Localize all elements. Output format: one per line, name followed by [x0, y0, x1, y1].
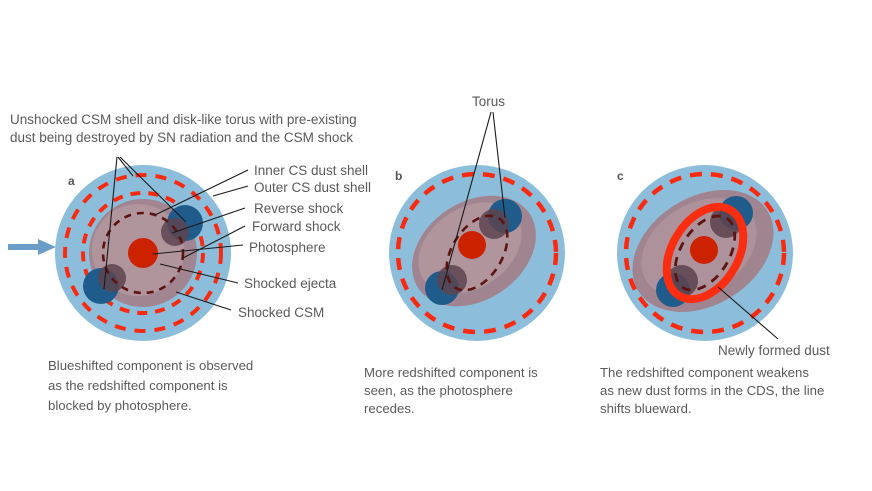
caption-c-line-3: shifts blueward.	[600, 401, 692, 416]
label-shocked-csm: Shocked CSM	[238, 305, 324, 320]
torus-overlap-lower-b	[437, 265, 467, 295]
caption-c-line-1: The redshifted component weakens	[600, 365, 809, 380]
caption-c: The redshifted component weakens as new …	[600, 365, 824, 416]
caption-b-line-3: recedes.	[364, 401, 415, 416]
caption-b-line-2: seen, as the photosphere	[364, 383, 513, 398]
caption-a-line-2: as the redshifted component is	[48, 378, 228, 393]
incoming-arrow	[8, 239, 56, 255]
label-torus: Torus	[472, 94, 505, 109]
label-newly-formed-dust: Newly formed dust	[718, 343, 830, 358]
caption-b-line-1: More redshifted component is	[364, 365, 538, 380]
caption-c-line-2: as new dust forms in the CDS, the line	[600, 383, 824, 398]
figure-canvas: Unshocked CSM shell and disk-like torus …	[0, 0, 872, 491]
sn-csm-dust-evolution-diagram: Unshocked CSM shell and disk-like torus …	[0, 0, 872, 491]
panel-letter-b: b	[395, 169, 402, 183]
label-outer-cs-dust-shell: Outer CS dust shell	[254, 180, 371, 195]
label-shocked-ejecta: Shocked ejecta	[244, 276, 337, 291]
photosphere-c	[690, 236, 718, 264]
panel-c: c	[610, 165, 796, 341]
panel-letter-c: c	[617, 169, 624, 183]
label-inner-cs-dust-shell: Inner CS dust shell	[254, 163, 368, 178]
photosphere-b	[458, 231, 486, 259]
annotation-line-1: Unshocked CSM shell and disk-like torus …	[10, 112, 357, 127]
panel-b: b	[389, 165, 565, 341]
caption-a-line-3: blocked by photosphere.	[48, 398, 192, 413]
leader-outer-cs-dust-shell	[213, 186, 248, 196]
label-reverse-shock: Reverse shock	[254, 201, 344, 216]
photosphere-a	[128, 238, 158, 268]
panel-letter-a: a	[68, 174, 75, 188]
label-forward-shock: Forward shock	[252, 219, 341, 234]
label-photosphere: Photosphere	[249, 240, 326, 255]
annotation-line-2: dust being destroyed by SN radiation and…	[10, 130, 353, 145]
caption-b: More redshifted component is seen, as th…	[364, 365, 538, 416]
caption-a: Blueshifted component is observed as the…	[48, 358, 253, 413]
caption-a-line-1: Blueshifted component is observed	[48, 358, 253, 373]
